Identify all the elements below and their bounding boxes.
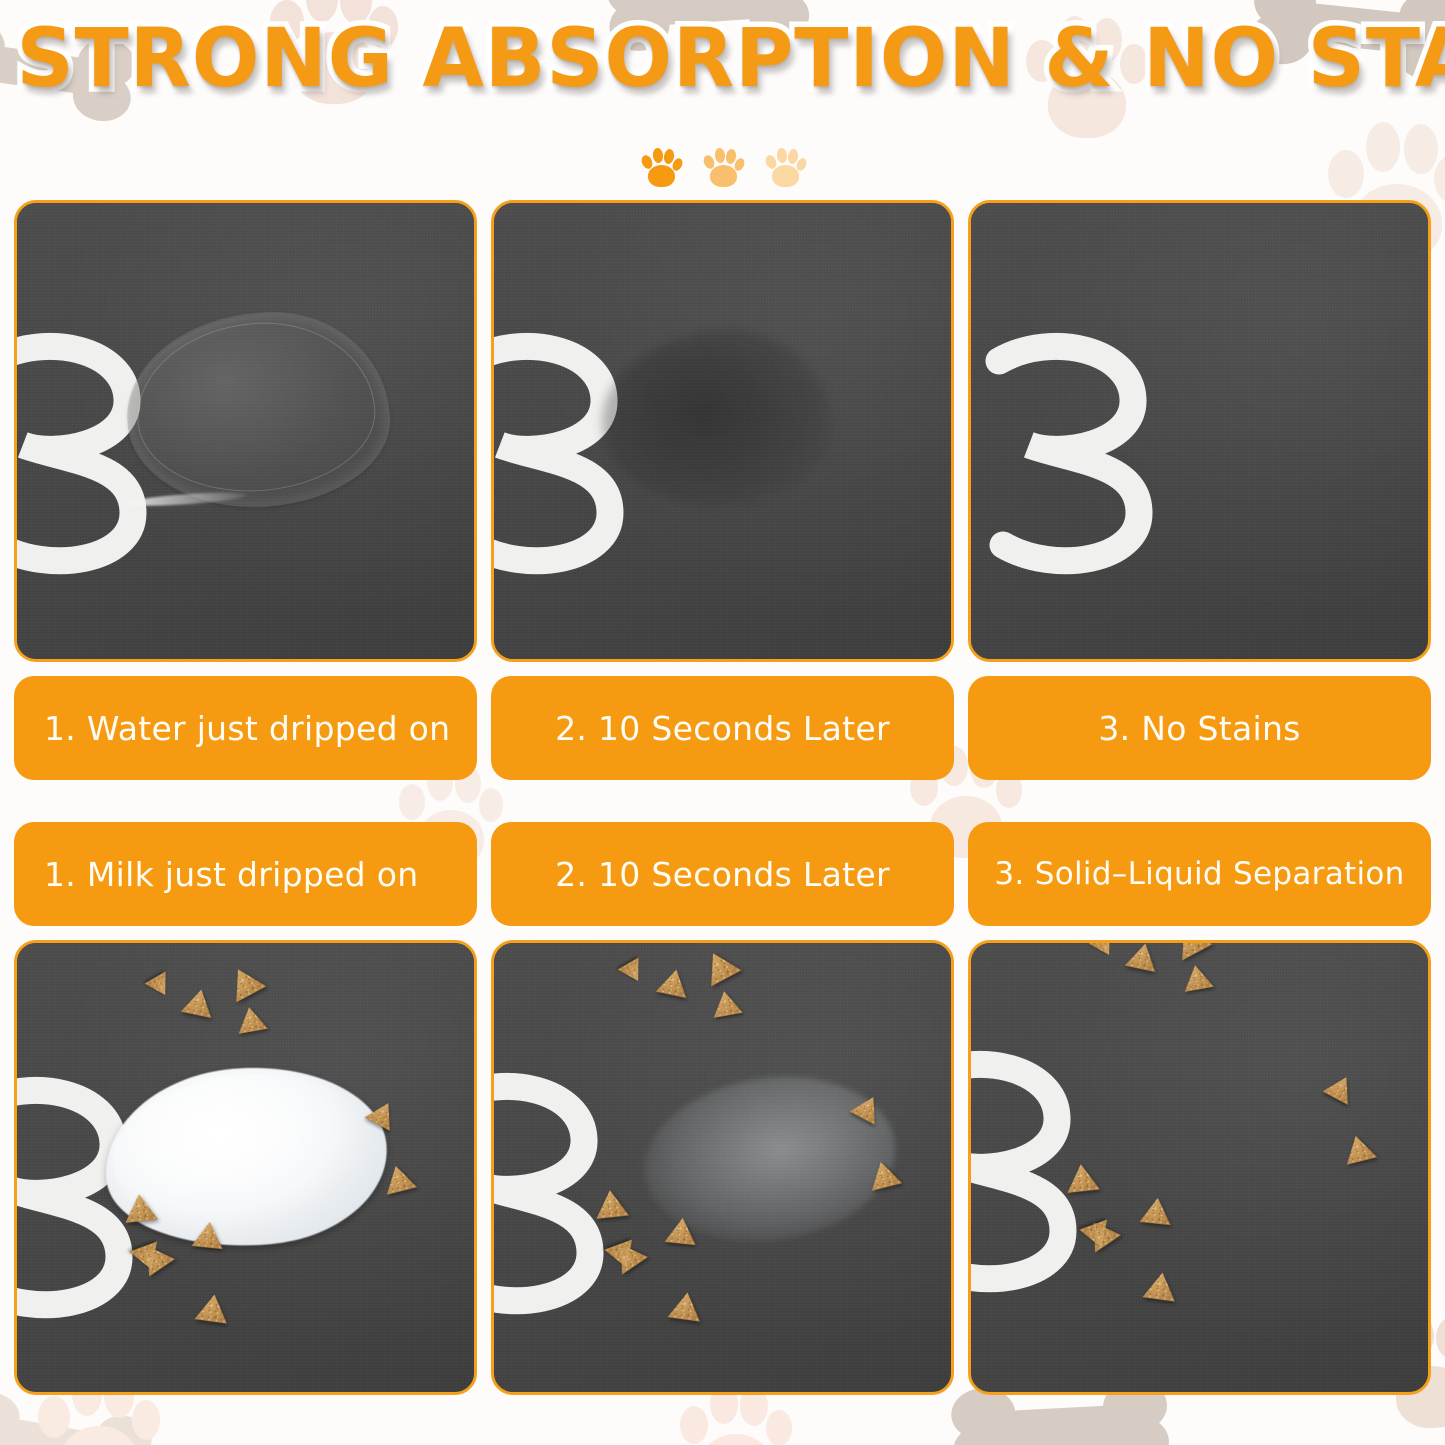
step-label-text: 1. Water just dripped on (44, 709, 450, 748)
step-label-bar: 1. Water just dripped on (14, 676, 477, 780)
demo-photo-water-no-stains (968, 200, 1431, 662)
step-label-text: 1. Milk just dripped on (44, 855, 418, 894)
demo-step-cell: 1. Milk just dripped on (14, 822, 477, 1395)
demo-photo-milk-dripped (14, 940, 477, 1395)
demo-photo-water-dripped (14, 200, 477, 662)
demo-photo-water-absorbed (491, 200, 954, 662)
demo-step-cell: 3. Solid–Liquid Separation (968, 822, 1431, 1395)
step-label-text: 3. Solid–Liquid Separation (994, 856, 1404, 892)
demo-photo-milk-absorbed (491, 940, 954, 1395)
demo-row-milk-test: 1. Milk just dripped on (14, 822, 1431, 1395)
step-label-bar: 2. 10 Seconds Later (491, 676, 954, 780)
demo-step-cell: 3. No Stains (968, 200, 1431, 780)
paw-print-icon (638, 145, 684, 191)
mat-logo-icon (981, 321, 1191, 581)
paw-print-icon (762, 145, 808, 191)
demo-step-cell: 1. Water just dripped on (14, 200, 477, 780)
page-title: STRONG ABSORPTION & NO STAINS (16, 18, 1445, 101)
mat-logo-icon (491, 1061, 642, 1321)
step-label-bar: 3. No Stains (968, 676, 1431, 780)
step-label-bar: 3. Solid–Liquid Separation (968, 822, 1431, 926)
mat-logo-icon (968, 1039, 1115, 1299)
page-title-container: STRONG ABSORPTION & NO STAINS (0, 18, 1445, 101)
demo-step-cell: 2. 10 Seconds Later (491, 200, 954, 780)
step-label-text: 2. 10 Seconds Later (555, 855, 890, 894)
demo-photo-solid-liquid-separation (968, 940, 1431, 1395)
infographic-root: STRONG ABSORPTION & NO STAINS (0, 0, 1445, 1445)
step-label-text: 3. No Stains (1098, 709, 1300, 748)
demo-step-cell: 2. 10 Seconds Later (491, 822, 954, 1395)
paw-print-icon (700, 145, 746, 191)
demo-grid: 1. Water just dripped on 2. 10 Seconds L… (14, 200, 1431, 1395)
demo-row-water-test: 1. Water just dripped on 2. 10 Seconds L… (14, 200, 1431, 780)
step-label-bar: 2. 10 Seconds Later (491, 822, 954, 926)
paw-divider (0, 140, 1445, 196)
step-label-text: 2. 10 Seconds Later (555, 709, 890, 748)
step-label-bar: 1. Milk just dripped on (14, 822, 477, 926)
